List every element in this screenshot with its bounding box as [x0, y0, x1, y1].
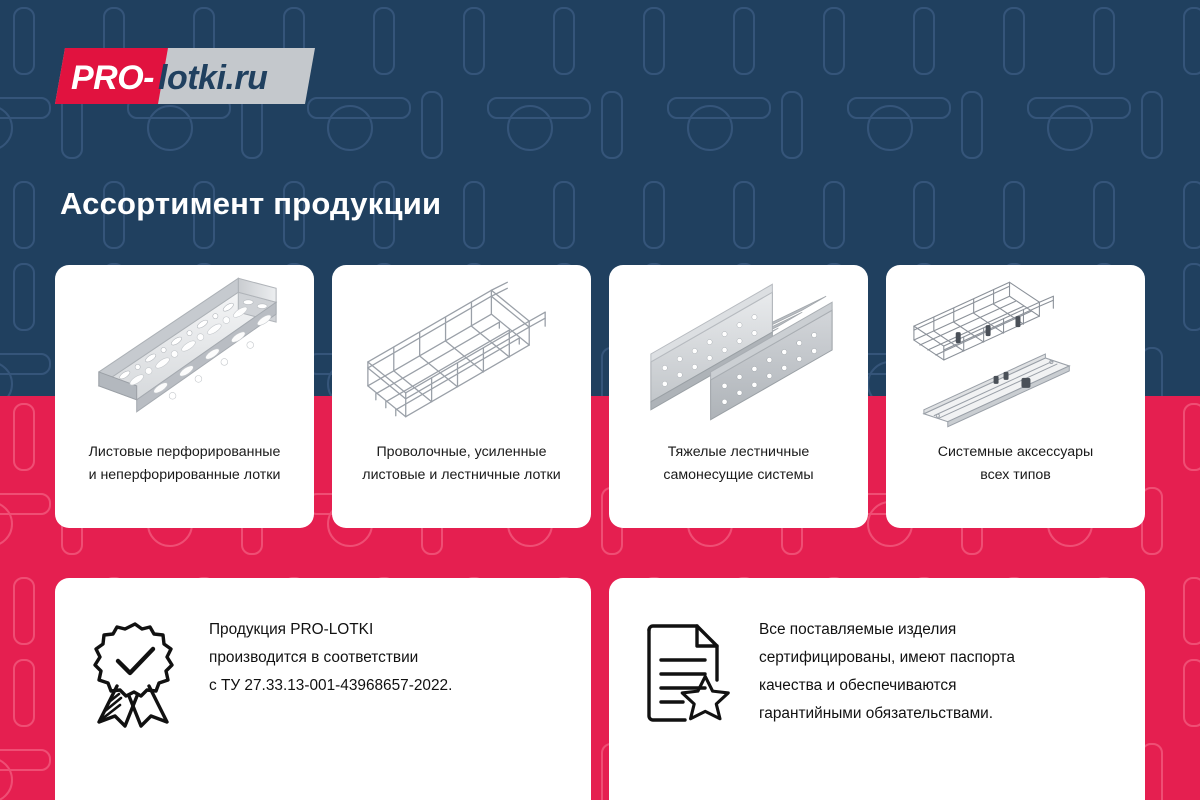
site-logo[interactable]: PRO- lotki.ru	[55, 48, 315, 104]
info-card-certification-standard: Продукция PRO-LOTKI производится в соотв…	[55, 578, 591, 800]
product-caption: Проволочные, усиленные листовые и лестни…	[332, 437, 591, 528]
product-caption-line2: самонесущие системы	[663, 464, 813, 487]
info-text-line4: гарантийными обязательствами.	[759, 700, 1015, 728]
info-text-line1: Все поставляемые изделия	[759, 616, 1015, 644]
product-caption-line1: Системные аксессуары	[938, 441, 1093, 464]
product-caption-line1: Проволочные, усиленные	[376, 441, 546, 464]
info-cards-row: Продукция PRO-LOTKI производится в соотв…	[55, 578, 1145, 800]
info-text-line3: качества и обеспечиваются	[759, 672, 1015, 700]
info-card-certificates-warranty: Все поставляемые изделия сертифицированы…	[609, 578, 1145, 800]
info-text-line2: сертифицированы, имеют паспорта	[759, 644, 1015, 672]
info-card-text: Все поставляемые изделия сертифицированы…	[759, 616, 1015, 728]
wire-mesh-tray-image	[332, 265, 591, 437]
logo-text-lotki: lotki.ru	[158, 59, 268, 97]
product-card-wire-mesh-tray[interactable]: Проволочные, усиленные листовые и лестни…	[332, 265, 591, 528]
product-caption-line2: всех типов	[980, 464, 1051, 487]
product-caption: Тяжелые лестничные самонесущие системы	[609, 437, 868, 528]
award-rosette-check-icon	[87, 616, 183, 728]
product-caption: Системные аксессуары всех типов	[886, 437, 1145, 528]
logo-icon: PRO- lotki.ru	[55, 48, 315, 104]
product-card-heavy-ladder-tray[interactable]: Тяжелые лестничные самонесущие системы	[609, 265, 868, 528]
info-card-text: Продукция PRO-LOTKI производится в соотв…	[209, 616, 452, 700]
product-caption-line2: листовые и лестничные лотки	[362, 464, 560, 487]
product-card-perforated-tray[interactable]: Листовые перфорированные и неперфорирова…	[55, 265, 314, 528]
certificate-document-star-icon	[641, 616, 733, 728]
product-caption-line1: Тяжелые лестничные	[668, 441, 810, 464]
product-caption: Листовые перфорированные и неперфорирова…	[55, 437, 314, 528]
perforated-sheet-tray-image	[55, 265, 314, 437]
info-text-line3: с ТУ 27.33.13-001-43968657-2022.	[209, 672, 452, 700]
product-cards-row: Листовые перфорированные и неперфорирова…	[55, 265, 1145, 528]
product-caption-line1: Листовые перфорированные	[89, 441, 281, 464]
product-card-system-accessories[interactable]: Системные аксессуары всех типов	[886, 265, 1145, 528]
info-text-line1: Продукция PRO-LOTKI	[209, 616, 452, 644]
product-caption-line2: и неперфорированные лотки	[89, 464, 281, 487]
info-text-line2: производится в соответствии	[209, 644, 452, 672]
logo-text-pro: PRO-	[71, 59, 154, 97]
heavy-ladder-tray-image	[609, 265, 868, 437]
page-title: Ассортимент продукции	[60, 186, 441, 222]
system-accessories-image	[886, 265, 1145, 437]
